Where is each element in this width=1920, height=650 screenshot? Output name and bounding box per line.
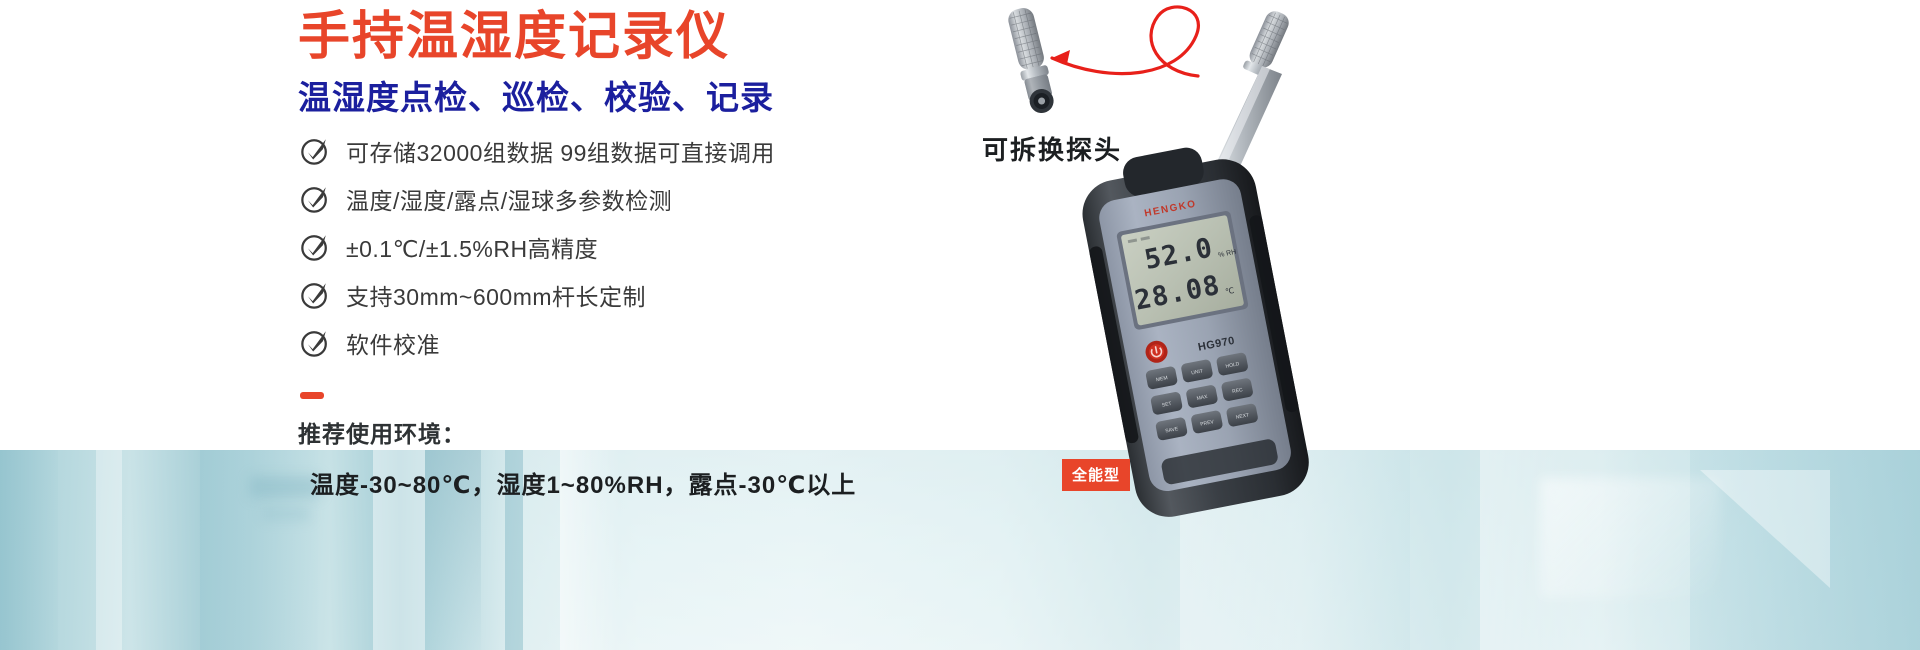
list-item-label: 支持30mm~600mm杆长定制 bbox=[346, 278, 646, 312]
list-item: ±0.1℃/±1.5%RH高精度 bbox=[300, 224, 775, 270]
environment-detail: 温度-30~80℃，湿度1~80%RH，露点-30℃以上 bbox=[298, 465, 856, 500]
page-title: 手持温湿度记录仪 bbox=[298, 8, 730, 68]
device-illustration: HENGKO 52.0 % RH 28.08 ℃ bbox=[940, 0, 1460, 530]
list-item-label: ±0.1℃/±1.5%RH高精度 bbox=[346, 230, 598, 264]
list-item-label: 可存储32000组数据 99组数据可直接调用 bbox=[346, 134, 775, 168]
band-streak bbox=[96, 450, 122, 650]
check-circle-icon bbox=[300, 232, 330, 262]
band-streak bbox=[0, 450, 58, 650]
band-blur-shape bbox=[1540, 478, 1720, 598]
product-banner: 手持温湿度记录仪 温湿度点检、巡检、校验、记录 可存储32000组数据 99组数… bbox=[0, 0, 1920, 650]
check-circle-icon bbox=[300, 184, 330, 214]
check-circle-icon bbox=[300, 280, 330, 310]
list-item: 支持30mm~600mm杆长定制 bbox=[300, 272, 775, 318]
detached-probe bbox=[1005, 5, 1058, 116]
lcd-temperature-unit: ℃ bbox=[1225, 286, 1236, 297]
feature-list: 可存储32000组数据 99组数据可直接调用 温度/湿度/露点/湿球多参数检测 … bbox=[300, 128, 775, 368]
section-divider-dash bbox=[300, 392, 324, 399]
check-circle-icon bbox=[300, 328, 330, 358]
band-triangle-highlight bbox=[1700, 470, 1830, 588]
red-arrow-icon bbox=[1052, 7, 1198, 76]
list-item-label: 温度/湿度/露点/湿球多参数检测 bbox=[346, 182, 672, 216]
list-item: 可存储32000组数据 99组数据可直接调用 bbox=[300, 128, 775, 174]
check-circle-icon bbox=[300, 136, 330, 166]
page-subtitle: 温湿度点检、巡检、校验、记录 bbox=[298, 78, 774, 118]
list-item: 软件校准 bbox=[300, 320, 775, 366]
list-item-label: 软件校准 bbox=[346, 326, 440, 360]
environment-title: 推荐使用环境： bbox=[298, 415, 856, 449]
band-blur-shape bbox=[262, 508, 310, 520]
environment-block: 推荐使用环境： 温度-30~80℃，湿度1~80%RH，露点-30℃以上 bbox=[298, 415, 856, 500]
list-item: 温度/湿度/露点/湿球多参数检测 bbox=[300, 176, 775, 222]
status-badge: 全能型 bbox=[1062, 459, 1130, 491]
